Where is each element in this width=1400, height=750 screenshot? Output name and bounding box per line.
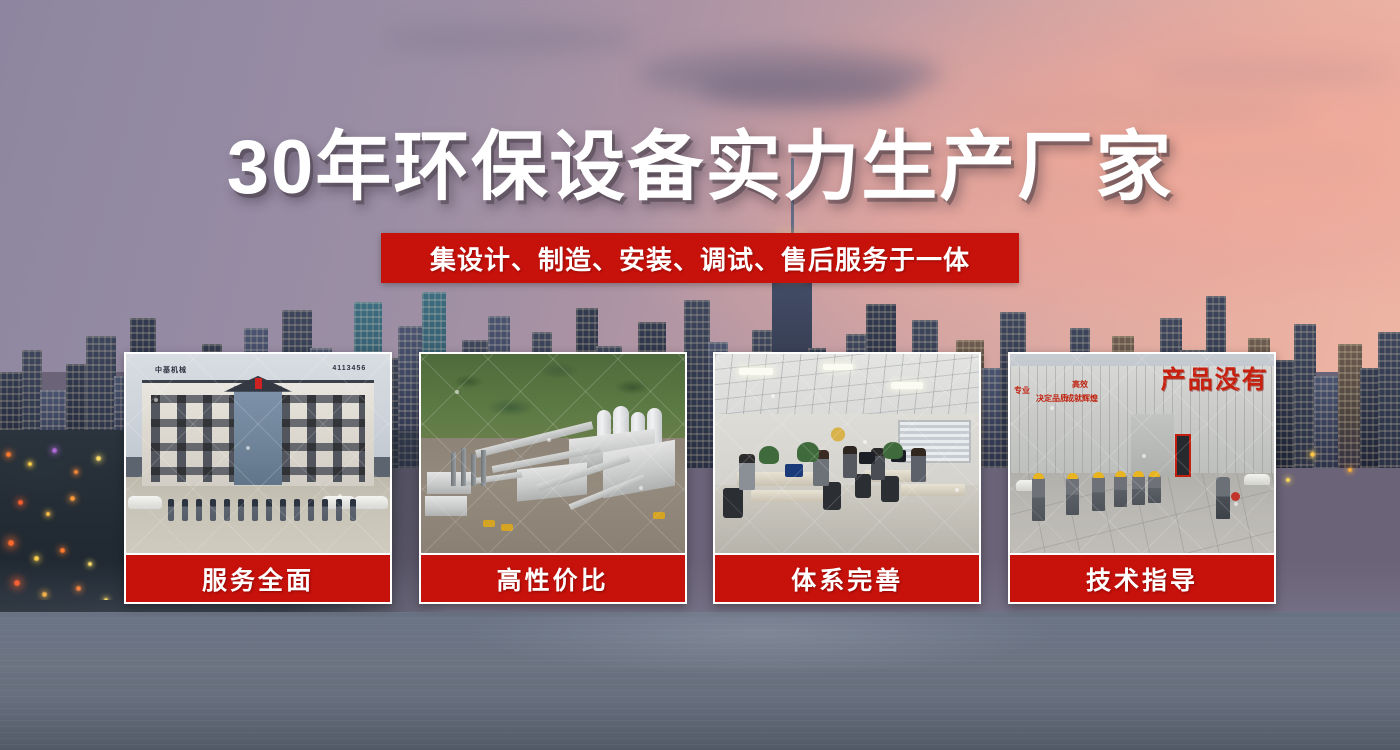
page-title: 30年环保设备实力生产厂家 [0, 128, 1400, 208]
card-caption-text: 体系完善 [791, 561, 903, 597]
banner-stage: 30年环保设备实力生产厂家 集设计、制造、安装、调试、售后服务于一体 中基机械 … [0, 0, 1400, 750]
card-photo-office-interior [715, 354, 979, 553]
card-caption-text: 高性价比 [497, 561, 609, 597]
card-photo-plant-aerial [421, 354, 685, 553]
feature-card-service[interactable]: 中基机械 4113456 [124, 352, 392, 604]
river-water [0, 612, 1400, 750]
card-photo-office-building: 中基机械 4113456 [126, 354, 390, 553]
card-caption-text: 技术指导 [1086, 561, 1198, 597]
card-caption-bar: 技术指导 [1010, 553, 1274, 602]
feature-card-list: 中基机械 4113456 [124, 352, 1276, 604]
factory-wall-slogan-1: 专业 [1014, 386, 1030, 395]
factory-wall-slogan-4: 成就辉煌 [1066, 394, 1098, 403]
feature-card-guidance[interactable]: 产品没有 专业 决定品质 高效 成就辉煌 [1008, 352, 1276, 604]
card-caption-bar: 体系完善 [715, 553, 979, 602]
building-sign-text: 中基机械 [155, 365, 187, 375]
subtitle-text: 集设计、制造、安装、调试、售后服务于一体 [430, 240, 970, 277]
card-caption-bar: 高性价比 [421, 553, 685, 602]
factory-wall-slogan-2: 决定品质 [1036, 394, 1068, 403]
building-phone-text: 4113456 [332, 365, 366, 372]
feature-card-value[interactable]: 高性价比 [419, 352, 687, 604]
factory-wall-slogan-3: 高效 [1072, 380, 1088, 389]
card-photo-factory-workers: 产品没有 专业 决定品质 高效 成就辉煌 [1010, 354, 1274, 553]
card-caption-bar: 服务全面 [126, 553, 390, 602]
factory-wall-slogan: 产品没有 [1161, 360, 1269, 396]
subtitle-banner: 集设计、制造、安装、调试、售后服务于一体 [381, 233, 1019, 283]
feature-card-system[interactable]: 体系完善 [713, 352, 981, 604]
card-caption-text: 服务全面 [202, 561, 314, 597]
